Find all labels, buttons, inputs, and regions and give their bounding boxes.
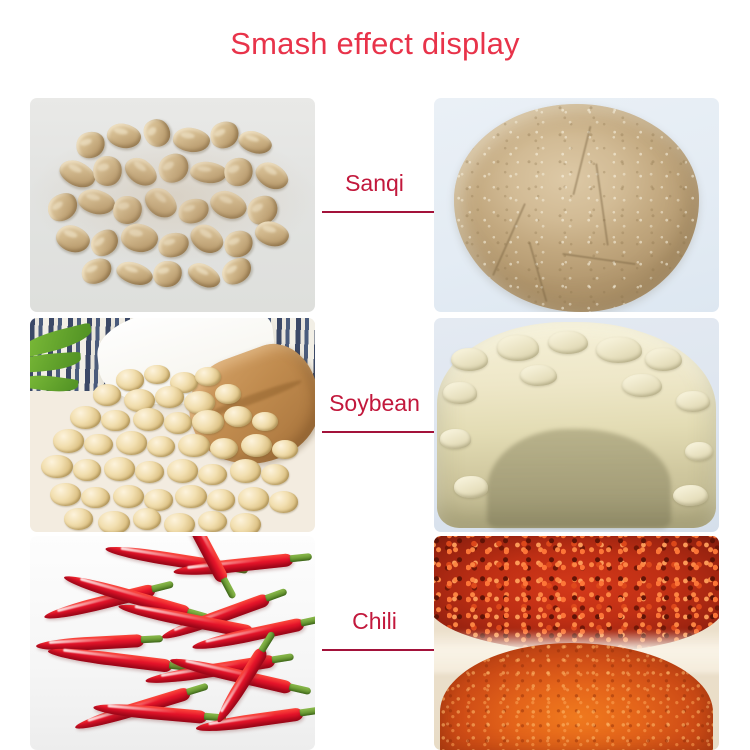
comparison-row-sanqi: Sanqi — [0, 98, 750, 312]
chili-pepper-heap — [30, 536, 315, 750]
sanqi-powder-mound — [434, 98, 719, 312]
label-column-chili: Chili — [315, 536, 434, 750]
label-column-sanqi: Sanqi — [315, 98, 434, 312]
chili-powder-photo — [434, 536, 719, 750]
material-label-sanqi: Sanqi — [315, 170, 434, 197]
smash-effect-display-page: Smash effect display — [0, 0, 750, 750]
label-column-soybean: Soybean — [315, 318, 434, 532]
material-label-chili: Chili — [315, 608, 434, 635]
soybean-heap — [30, 318, 315, 532]
sanqi-root-pile — [30, 98, 315, 312]
soybean-powder-pile — [434, 318, 719, 532]
sanqi-powder-photo — [434, 98, 719, 312]
chili-raw-photo — [30, 536, 315, 750]
label-underline-chili — [322, 649, 434, 651]
comparison-row-chili: Chili — [0, 536, 750, 750]
sanqi-raw-photo — [30, 98, 315, 312]
soybean-powder-photo — [434, 318, 719, 532]
soybean-raw-photo — [30, 318, 315, 532]
chili-flakes-and-powder — [434, 536, 719, 750]
page-title: Smash effect display — [0, 26, 750, 62]
label-underline-soybean — [322, 431, 434, 433]
label-underline-sanqi — [322, 211, 434, 213]
comparison-row-soybean: Soybean — [0, 318, 750, 532]
material-label-soybean: Soybean — [315, 390, 434, 417]
